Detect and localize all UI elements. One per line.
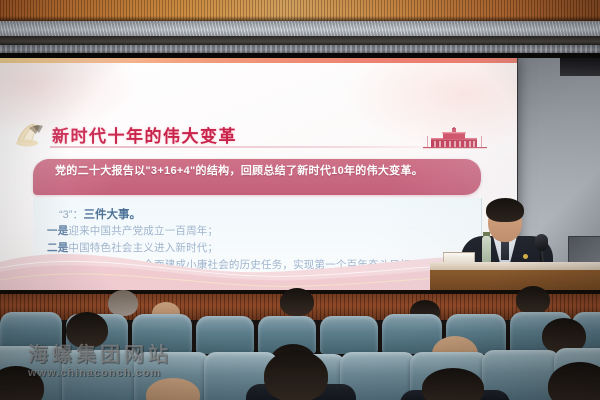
audience-head: [516, 286, 550, 314]
slide-banner-text: 党的二十大报告以"3+16+4"的结构，回顾总结了新时代10年的伟大变革。: [55, 164, 471, 179]
audience-head: [280, 288, 314, 316]
slide-title: 新时代十年的伟大变革: [52, 122, 237, 147]
content-heading-text: 三件大事。: [83, 209, 141, 221]
audience-head: [66, 312, 108, 348]
slide-top-border: [0, 58, 517, 63]
screenshot-stage: 新时代十年的伟大变革: [0, 0, 600, 400]
auditorium-seat: [62, 350, 140, 400]
presenter-hair: [486, 198, 524, 222]
ceiling-wood-paneling: [0, 0, 600, 22]
presenter-tie: [501, 240, 509, 260]
desk-microphone-icon: [535, 234, 548, 251]
title-underline: [50, 146, 460, 148]
party-ribbon-emblem-icon: [14, 120, 48, 148]
wall-dark-strip: [560, 58, 600, 76]
audience-head: [108, 290, 138, 316]
water-bottle: [482, 236, 491, 264]
content-heading: “3”：三件大事。: [59, 206, 141, 222]
projection-screen: 新时代十年的伟大变革: [0, 58, 517, 296]
auditorium-seat: [132, 314, 192, 354]
audience-head: [264, 350, 328, 400]
presenter-lapel-badge: [523, 254, 528, 259]
auditorium-seat: [320, 316, 378, 354]
auditorium-seat: [196, 316, 254, 354]
content-heading-quote: “3”: [59, 209, 72, 221]
great-hall-of-the-people-icon: [421, 127, 489, 151]
slide-banner: 党的二十大报告以"3+16+4"的结构，回顾总结了新时代10年的伟大变革。: [33, 159, 481, 195]
content-heading-sep: ：: [72, 209, 83, 221]
ceiling-metal-band: [0, 21, 600, 37]
audience-head: [422, 368, 484, 400]
